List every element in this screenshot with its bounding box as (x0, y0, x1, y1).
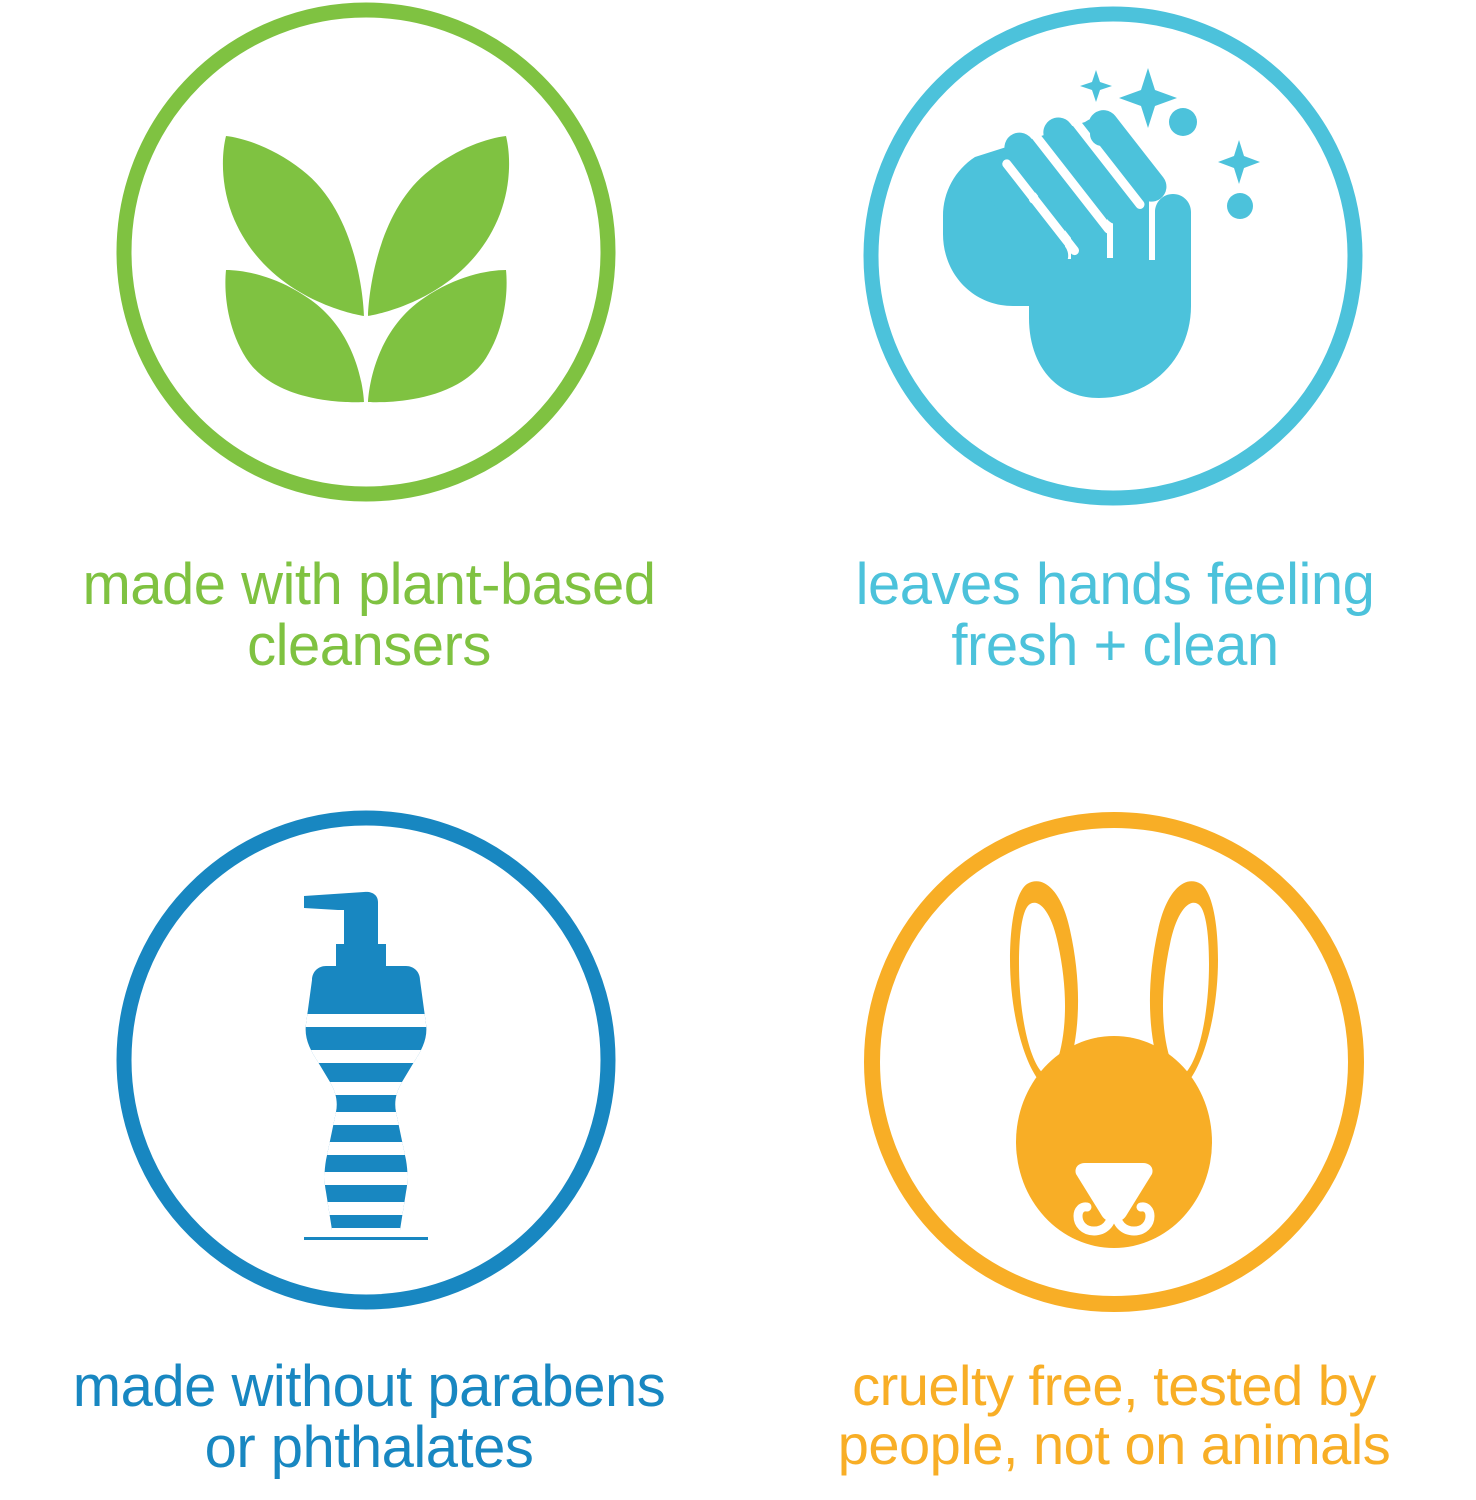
badge-plant-based: made with plant-based cleansers (0, 0, 738, 750)
soap-pump-bottle-icon (116, 810, 616, 1310)
washing-hands-sparkle-icon (863, 6, 1363, 506)
badge-caption: cruelty free, tested by people, not on a… (764, 1356, 1464, 1475)
badge-no-parabens: made without parabens or phthalates (0, 750, 738, 1500)
badge-fresh-clean-hands: leaves hands feeling fresh + clean (738, 0, 1476, 750)
benefit-badge-grid: made with plant-based cleansers (0, 0, 1476, 1500)
badge-caption: made with plant-based cleansers (19, 554, 719, 677)
badge-cruelty-free: cruelty free, tested by people, not on a… (738, 750, 1476, 1500)
badge-caption: made without parabens or phthalates (9, 1356, 729, 1479)
badge-caption: leaves hands feeling fresh + clean (795, 554, 1435, 677)
rabbit-head-icon (864, 812, 1364, 1312)
plant-sprout-icon (116, 2, 616, 502)
